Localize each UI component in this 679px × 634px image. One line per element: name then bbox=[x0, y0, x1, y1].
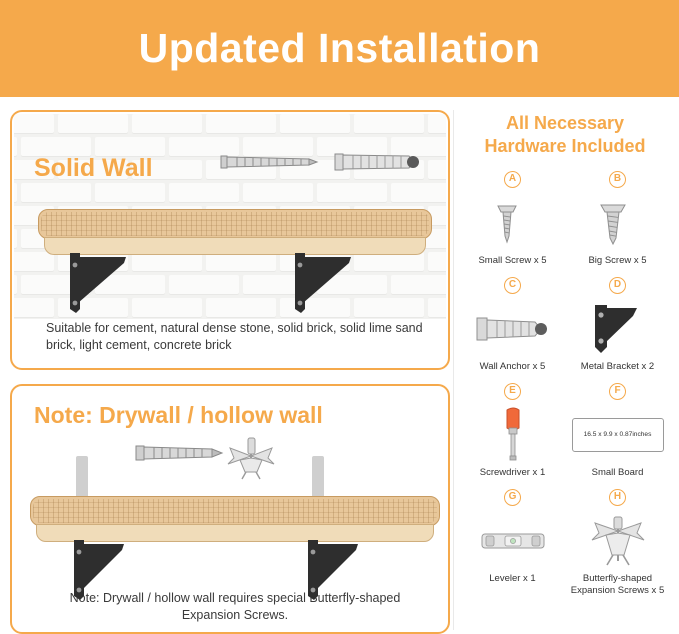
badge-d: D bbox=[609, 277, 626, 294]
hardware-label-wall-anchor: Wall Anchor x 5 bbox=[460, 361, 565, 373]
badge-c: C bbox=[504, 277, 521, 294]
big-screw-icon bbox=[565, 192, 670, 254]
shelf-bracket-right bbox=[306, 540, 386, 602]
hardware-label-leveler: Leveler x 1 bbox=[460, 573, 565, 585]
badge-g: G bbox=[504, 489, 521, 506]
hardware-label-screwdriver: Screwdriver x 1 bbox=[460, 467, 565, 479]
hardware-title-line2: Hardware Included bbox=[460, 135, 670, 158]
badge-a: A bbox=[504, 171, 521, 188]
shelf-bracket-right bbox=[293, 253, 383, 315]
badge-h: H bbox=[609, 489, 626, 506]
leveler-icon bbox=[460, 510, 565, 572]
hardware-label-butterfly-screw-line1: Butterfly-shaped bbox=[565, 573, 670, 585]
badge-b: B bbox=[609, 171, 626, 188]
page-header: Updated Installation bbox=[0, 0, 679, 97]
wall-anchor-icon bbox=[460, 298, 565, 360]
small-screw-icon bbox=[460, 192, 565, 254]
drywall-shelf-illustration bbox=[30, 496, 440, 606]
hardware-column: All Necessary Hardware Included A bbox=[460, 112, 670, 596]
column-divider bbox=[453, 110, 454, 630]
small-board-dimensions: 16.5 x 9.9 x 0.87inches bbox=[572, 418, 664, 452]
shelf-top-surface bbox=[38, 209, 432, 239]
hardware-grid: A Small Screw x 5 B bbox=[460, 171, 670, 596]
shelf-top-surface bbox=[30, 496, 440, 526]
wall-anchor-icon bbox=[335, 154, 419, 170]
hardware-label-big-screw: Big Screw x 5 bbox=[565, 255, 670, 267]
hardware-label-metal-bracket: Metal Bracket x 2 bbox=[565, 361, 670, 373]
hardware-label-small-screw: Small Screw x 5 bbox=[460, 255, 565, 267]
infographic-page: Updated Installation bbox=[0, 0, 679, 634]
screw-icon bbox=[136, 446, 222, 460]
small-board-icon: 16.5 x 9.9 x 0.87inches bbox=[565, 404, 670, 466]
drywall-panel: Note: Drywall / hollow wall bbox=[10, 384, 450, 634]
badge-e: E bbox=[504, 383, 521, 400]
screw-icon bbox=[221, 156, 317, 168]
hardware-label-butterfly-screw-line2: Expansion Screws x 5 bbox=[565, 585, 670, 597]
solid-wall-screw-anchor-illustration bbox=[217, 142, 432, 184]
hardware-item-metal-bracket: D Metal Bracket x 2 bbox=[565, 277, 670, 373]
solid-wall-panel: Solid Wall bbox=[10, 110, 450, 370]
screwdriver-icon bbox=[460, 404, 565, 466]
metal-bracket-icon bbox=[565, 298, 670, 360]
solid-wall-shelf-illustration bbox=[38, 209, 432, 319]
shelf-bracket-left bbox=[72, 540, 152, 602]
hardware-item-big-screw: B Big Screw x 5 bbox=[565, 171, 670, 267]
badge-f: F bbox=[609, 383, 626, 400]
solid-wall-description: Suitable for cement, natural dense stone… bbox=[46, 320, 428, 354]
hardware-item-butterfly-screw: H Butterfly-shaped Expansion Screws x 5 bbox=[565, 489, 670, 597]
hardware-title: All Necessary Hardware Included bbox=[460, 112, 670, 157]
page-title: Updated Installation bbox=[139, 25, 541, 72]
hardware-item-wall-anchor: C Wall Anchor x 5 bbox=[460, 277, 565, 373]
hardware-label-butterfly-screw: Butterfly-shaped Expansion Screws x 5 bbox=[565, 573, 670, 597]
hardware-item-small-screw: A Small Screw x 5 bbox=[460, 171, 565, 267]
hardware-label-small-board: Small Board bbox=[565, 467, 670, 479]
solid-wall-label: Solid Wall bbox=[34, 154, 153, 183]
hardware-item-leveler: G Leveler x 1 bbox=[460, 489, 565, 597]
left-column: Solid Wall bbox=[10, 110, 450, 634]
shelf-bracket-left bbox=[68, 253, 158, 315]
hardware-item-screwdriver: E Screwdriver x 1 bbox=[460, 383, 565, 479]
butterfly-screw-icon bbox=[228, 438, 274, 479]
hardware-title-line1: All Necessary bbox=[460, 112, 670, 135]
hardware-item-small-board: F 16.5 x 9.9 x 0.87inches Small Board bbox=[565, 383, 670, 479]
drywall-screw-butterfly-illustration bbox=[130, 432, 315, 480]
drywall-label: Note: Drywall / hollow wall bbox=[34, 402, 323, 429]
butterfly-screw-icon bbox=[565, 510, 670, 572]
